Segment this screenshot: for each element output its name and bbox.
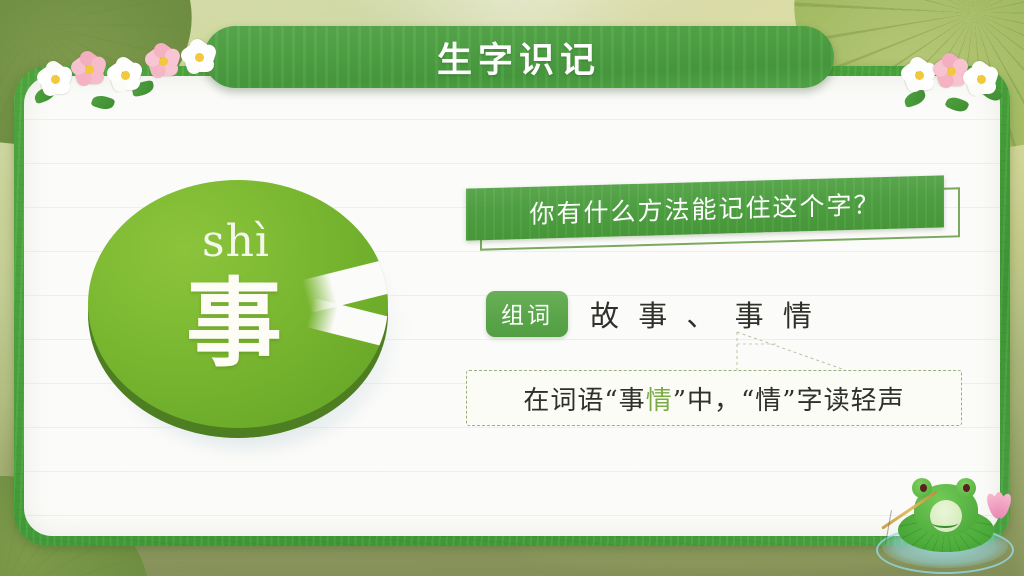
question-banner: 你有什么方法能记住这个字？ xyxy=(466,182,964,246)
word-formation-chip: 组词 xyxy=(486,291,568,337)
frog-fishing-icon xyxy=(876,450,1016,574)
frog-pupil-left xyxy=(920,484,927,492)
page-title: 生字识记 xyxy=(437,32,601,83)
flower-icon xyxy=(934,54,968,88)
lesson-slide: 生字识记 xyxy=(0,0,1024,576)
note-middle: ”中，“情”字读轻声 xyxy=(673,386,905,416)
pronunciation-note-box: 在词语“事情”中，“情”字读轻声 xyxy=(466,370,962,426)
flower-icon xyxy=(146,44,180,78)
lotus-flower-icon xyxy=(984,480,1014,518)
flower-icon xyxy=(38,62,72,96)
character-lily-pad: shì 事 xyxy=(80,172,410,442)
note-highlight: 情 xyxy=(646,386,673,416)
hanzi-character: 事 xyxy=(80,276,388,372)
question-text: 你有什么方法能记住这个字？ xyxy=(529,185,880,231)
pronunciation-note-text: 在词语“事情”中，“情”字读轻声 xyxy=(523,380,904,417)
frog-mouth xyxy=(932,518,958,528)
note-prefix: 在词语“事 xyxy=(523,386,645,416)
flower-icon xyxy=(72,52,106,86)
flower-icon xyxy=(182,40,216,74)
flower-icon xyxy=(902,58,936,92)
frog-pupil-right xyxy=(963,484,970,492)
flower-icon xyxy=(964,62,998,96)
flower-icon xyxy=(108,58,142,92)
pinyin-text: shì xyxy=(80,216,392,267)
title-banner: 生字识记 xyxy=(204,26,834,88)
word-formation-words: 故 事 、 事 情 xyxy=(590,293,817,335)
word-formation-row: 组词 故 事 、 事 情 xyxy=(486,291,817,337)
